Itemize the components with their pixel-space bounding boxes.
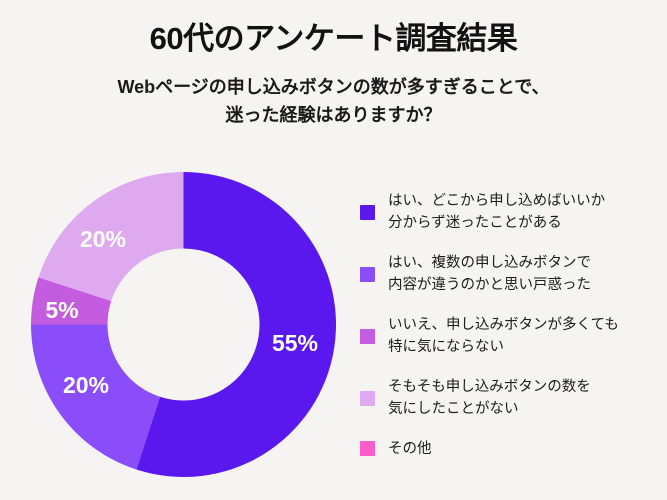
- legend-swatch-icon-3: [360, 329, 375, 344]
- donut-slice-label-4: 20%: [80, 226, 126, 252]
- page-title: 60代のアンケート調査結果: [0, 0, 667, 59]
- donut-chart-svg: 55%20%5%20%: [31, 172, 336, 477]
- legend-item-5[interactable]: その他: [360, 438, 660, 460]
- legend-item-1[interactable]: はい、どこから申し込めばいいか 分からず迷ったことがある: [360, 190, 660, 235]
- chart-header: 60代のアンケート調査結果 Webページの申し込みボタンの数が多すぎることで、 …: [0, 0, 667, 130]
- chart-page: 60代のアンケート調査結果 Webページの申し込みボタンの数が多すぎることで、 …: [0, 0, 667, 500]
- legend-item-3[interactable]: いいえ、申し込みボタンが多くても 特に気にならない: [360, 314, 660, 359]
- legend-swatch-icon-5: [360, 441, 375, 456]
- legend-label-1: はい、どこから申し込めばいいか 分からず迷ったことがある: [388, 190, 605, 235]
- donut-slice-label-2: 20%: [63, 372, 109, 398]
- donut-chart: 55%20%5%20%: [31, 172, 336, 477]
- legend-swatch-icon-4: [360, 391, 375, 406]
- legend-item-2[interactable]: はい、複数の申し込みボタンで 内容が違うのかと思い戸惑った: [360, 252, 660, 297]
- chart-subtitle-line-2: 迷った経験はありますか？: [0, 102, 667, 130]
- legend-item-4[interactable]: そもそも申し込みボタンの数を 気にしたことがない: [360, 376, 660, 421]
- donut-slice-label-3: 5%: [45, 297, 78, 323]
- legend-label-2: はい、複数の申し込みボタンで 内容が違うのかと思い戸惑った: [388, 252, 591, 297]
- legend-swatch-icon-1: [360, 205, 375, 220]
- chart-subtitle-line-1: Webページの申し込みボタンの数が多すぎることで、: [0, 74, 667, 102]
- chart-legend: はい、どこから申し込めばいいか 分からず迷ったことがある はい、複数の申し込みボ…: [360, 190, 660, 460]
- legend-label-4: そもそも申し込みボタンの数を 気にしたことがない: [388, 376, 591, 421]
- legend-label-5: その他: [388, 438, 432, 460]
- legend-swatch-icon-2: [360, 267, 375, 282]
- legend-label-3: いいえ、申し込みボタンが多くても 特に気にならない: [388, 314, 619, 359]
- donut-slice-label-1: 55%: [272, 330, 318, 356]
- chart-subtitle: Webページの申し込みボタンの数が多すぎることで、 迷った経験はありますか？: [0, 59, 667, 130]
